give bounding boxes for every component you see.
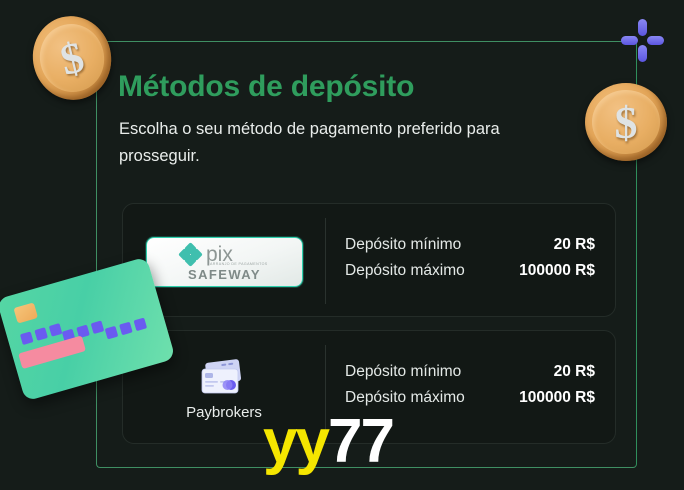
pix-tagline: ARRANJO DE PAGAMENTOS <box>210 262 268 266</box>
deposit-max-label: Depósito máximo <box>345 258 465 284</box>
coin-dollar-icon: $ <box>585 83 667 161</box>
deposit-limits-list: Depósito mínimo 20 R$ Depósito máximo 10… <box>345 359 595 411</box>
deposit-limits-list: Depósito mínimo 20 R$ Depósito máximo 10… <box>345 232 595 284</box>
pix-diamond-icon <box>180 244 201 265</box>
safeway-wordmark: SAFEWAY <box>147 267 302 282</box>
deposit-min-label: Depósito mínimo <box>345 232 461 258</box>
page-title: Métodos de depósito <box>118 70 414 104</box>
watermark-part-a: yy <box>263 407 328 476</box>
watermark: yy77 <box>263 411 393 473</box>
deposit-max-row: Depósito máximo 100000 R$ <box>345 258 595 284</box>
coin-dollar-glyph: $ <box>585 83 667 161</box>
watermark-part-b: 77 <box>328 407 393 476</box>
page-subtitle: Escolha o seu método de pagamento prefer… <box>119 116 574 170</box>
deposit-max-value: 100000 R$ <box>519 385 595 411</box>
deposit-methods-screen: Métodos de depósito Escolha o seu método… <box>0 0 684 490</box>
payment-method-card-pix-safeway[interactable]: pix ARRANJO DE PAGAMENTOS SAFEWAY Depósi… <box>122 203 616 317</box>
deposit-min-value: 20 R$ <box>554 359 595 385</box>
deposit-max-value: 100000 R$ <box>519 258 595 284</box>
card-chip <box>13 302 38 323</box>
deposit-min-row: Depósito mínimo 20 R$ <box>345 232 595 258</box>
pix-safeway-logo-tile: pix ARRANJO DE PAGAMENTOS SAFEWAY <box>146 237 303 287</box>
card-digit-group <box>105 318 147 340</box>
deposit-min-row: Depósito mínimo 20 R$ <box>345 359 595 385</box>
deposit-min-value: 20 R$ <box>554 232 595 258</box>
deposit-min-label: Depósito mínimo <box>345 359 461 385</box>
credit-cards-icon <box>197 359 249 399</box>
plus-sparkle-icon <box>620 18 665 63</box>
card-divider <box>325 218 326 304</box>
